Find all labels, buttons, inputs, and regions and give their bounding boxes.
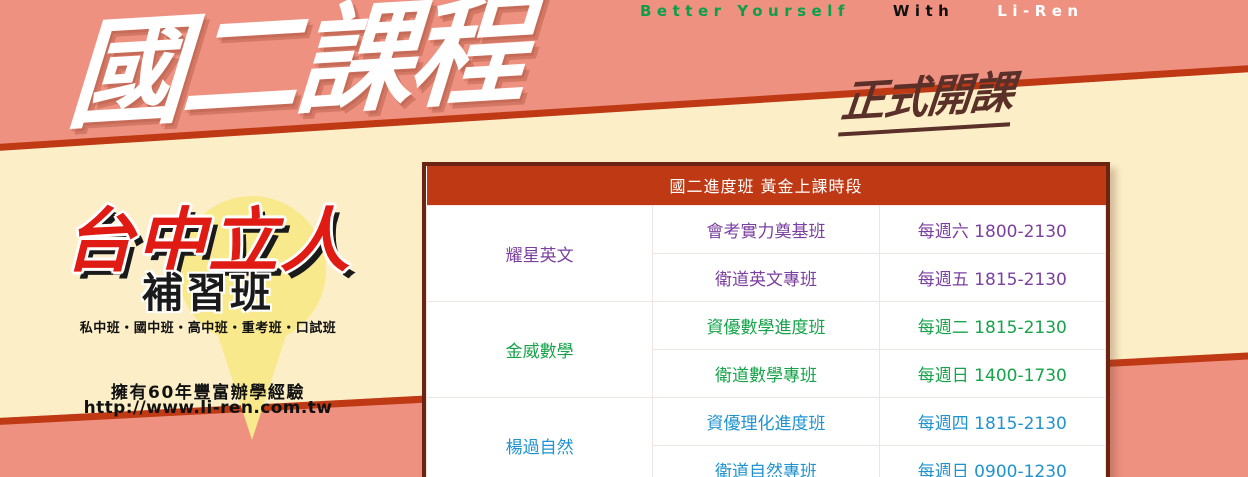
tagline-part-with: With — [893, 2, 955, 20]
brand-tagline: Better Yourself With Li-Ren — [640, 2, 1084, 20]
course-time-cell: 每週六 1800-2130 — [879, 206, 1105, 254]
logo-class-list: 私中班・國中班・高中班・重考班・口試班 — [38, 317, 378, 336]
tagline-part-better: Better Yourself — [640, 2, 850, 20]
schedule-header-title: 國二進度班 黃金上課時段 — [427, 166, 1106, 206]
schedule-table-head: 國二進度班 黃金上課時段 — [427, 166, 1106, 206]
promo-banner: Better Yourself With Li-Ren 國二課程 正式開課 台中… — [0, 0, 1248, 477]
course-name-cell: 資優理化進度班 — [653, 398, 879, 446]
subject-cell: 金威數學 — [427, 302, 653, 398]
course-time-cell: 每週五 1815-2130 — [879, 254, 1105, 302]
logo-main-text: 台中立人 — [38, 206, 378, 276]
course-name-cell: 資優數學進度班 — [653, 302, 879, 350]
table-header-row: 國二進度班 黃金上課時段 — [427, 166, 1106, 206]
table-row: 金威數學資優數學進度班每週二 1815-2130 — [427, 302, 1106, 350]
tagline-part-liren: Li-Ren — [997, 2, 1083, 20]
schedule-table-container: 國二進度班 黃金上課時段 耀星英文會考實力奠基班每週六 1800-2130衛道英… — [422, 162, 1110, 477]
schedule-table-body: 耀星英文會考實力奠基班每週六 1800-2130衛道英文專班每週五 1815-2… — [427, 206, 1106, 477]
course-time-cell: 每週二 1815-2130 — [879, 302, 1105, 350]
course-name-cell: 會考實力奠基班 — [653, 206, 879, 254]
course-time-cell: 每週日 0900-1230 — [879, 446, 1105, 477]
course-name-cell: 衛道英文專班 — [653, 254, 879, 302]
course-time-cell: 每週四 1815-2130 — [879, 398, 1105, 446]
course-time-cell: 每週日 1400-1730 — [879, 350, 1105, 398]
school-logo: 台中立人 補習班 私中班・國中班・高中班・重考班・口試班 — [38, 206, 378, 336]
table-row: 楊過自然資優理化進度班每週四 1815-2130 — [427, 398, 1106, 446]
website-url[interactable]: http://www.li-ren.com.tw — [38, 398, 378, 418]
headline-subtitle: 正式開課 — [838, 56, 1017, 137]
schedule-table: 國二進度班 黃金上課時段 耀星英文會考實力奠基班每週六 1800-2130衛道英… — [426, 166, 1106, 477]
course-name-cell: 衛道自然專班 — [653, 446, 879, 477]
subject-cell: 耀星英文 — [427, 206, 653, 302]
course-name-cell: 衛道數學專班 — [653, 350, 879, 398]
subject-cell: 楊過自然 — [427, 398, 653, 477]
headline-title: 國二課程 — [64, 0, 527, 139]
table-row: 耀星英文會考實力奠基班每週六 1800-2130 — [427, 206, 1106, 254]
